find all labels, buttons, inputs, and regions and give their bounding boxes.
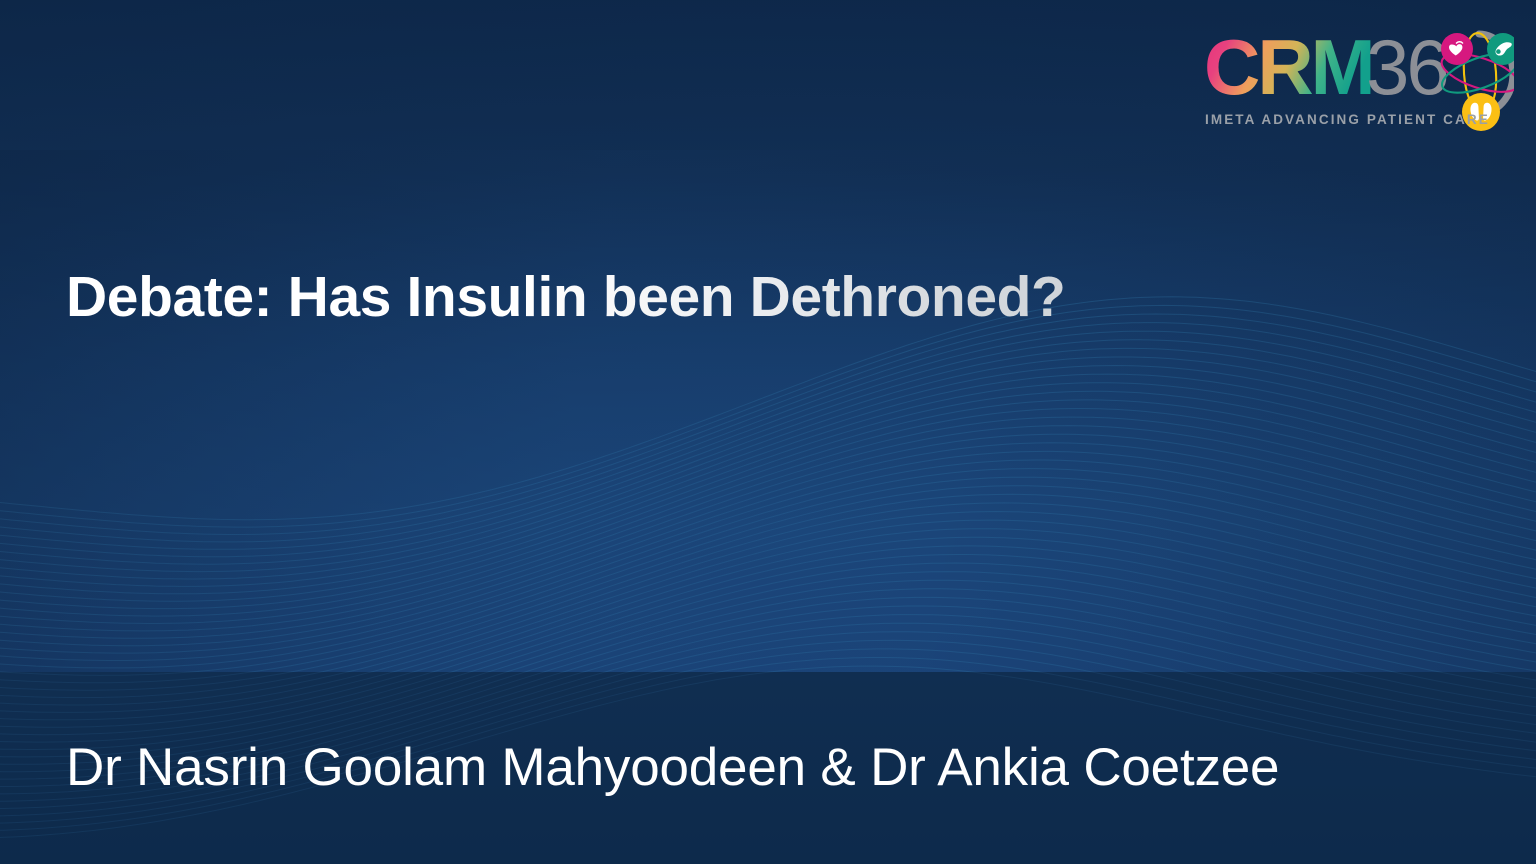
- crm360-logo: CRM 36: [1204, 18, 1514, 136]
- logo-wordmark-crm: CRM: [1204, 23, 1373, 111]
- logo-wordmark-36: 36: [1366, 23, 1447, 111]
- heart-icon: [1441, 33, 1473, 65]
- logo-tagline: IMETA ADVANCING PATIENT CARE: [1205, 112, 1490, 127]
- title-slide: Debate: Has Insulin been Dethroned? Dr N…: [0, 0, 1536, 864]
- page-title: Debate: Has Insulin been Dethroned?: [66, 266, 1065, 330]
- speaker-names: Dr Nasrin Goolam Mahyoodeen & Dr Ankia C…: [66, 737, 1279, 798]
